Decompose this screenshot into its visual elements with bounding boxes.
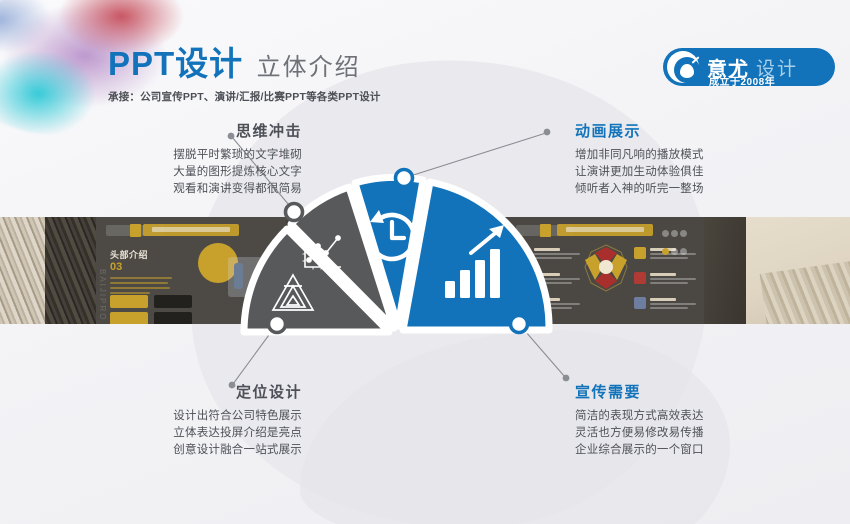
slide-side-label: BAIJIPRO: [98, 269, 107, 321]
slide-title-bar: [143, 224, 239, 236]
callout-line: 企业综合展示的一个窗口: [575, 442, 805, 459]
slide-dot-grid: [662, 226, 694, 262]
node-bottom-right[interactable]: [511, 316, 528, 333]
callout-line: 设计出符合公司特色展示: [72, 408, 302, 425]
callout-line: 灵活也方便易修改易传播: [575, 425, 805, 442]
callout-line: 摆脱平时繁琐的文字堆砌: [72, 147, 302, 164]
node-top-right[interactable]: [396, 170, 413, 187]
wood-texture-dark: [45, 217, 100, 324]
brand-established: 成立于2008年: [709, 73, 775, 88]
callout-top-left: 思维冲击 摆脱平时繁琐的文字堆砌 大量的图形提炼核心文字 观看和演讲变得都很简易: [72, 120, 302, 198]
callout-line: 观看和演讲变得都很简易: [72, 181, 302, 198]
page-title: PPT设计: [108, 47, 243, 80]
brand-badge[interactable]: 意尤 设计 成立于2008年: [663, 48, 835, 86]
page-header: PPT设计 立体介绍 承接：公司宣传PPT、演讲/汇报/比赛PPT等各类PPT设…: [108, 47, 381, 104]
node-bottom-left[interactable]: [269, 316, 286, 333]
callout-line: 立体表达投屏介绍是亮点: [72, 425, 302, 442]
slide-number: 03: [110, 261, 122, 273]
slide-canvas: 头部介绍 03 BAIJIPRO: [0, 0, 850, 524]
dark-panel: [704, 217, 746, 324]
callout-line: 创意设计融合一站式展示: [72, 442, 302, 459]
slide-title-bar: [557, 224, 653, 236]
callout-line: 大量的图形提炼核心文字: [72, 164, 302, 181]
slide-tag-3: [110, 312, 148, 324]
callout-line: 让演讲更加生动体验俱佳: [575, 164, 805, 181]
slide-tag-2: [154, 295, 192, 308]
node-top-left[interactable]: [286, 204, 303, 221]
slide-text-lines: [110, 277, 172, 297]
slide-tag-4: [154, 312, 192, 324]
callout-title: 定位设计: [72, 381, 302, 402]
slide-tag-1: [110, 295, 148, 308]
beige-photo-right: [746, 217, 850, 324]
slide-heading: 头部介绍: [110, 248, 148, 261]
mouse-logo-icon: [667, 51, 699, 83]
callout-title: 动画展示: [575, 120, 805, 141]
callout-title: 思维冲击: [72, 120, 302, 141]
callout-line: 倾听者入神的听完一整场: [575, 181, 805, 198]
photo-railing-detail: [760, 259, 850, 324]
callout-line: 增加非同凡响的播放模式: [575, 147, 805, 164]
callout-title: 宣传需要: [575, 381, 805, 402]
slide-octagon-diagram: [577, 243, 635, 301]
callout-line: 简洁的表现方式高效表达: [575, 408, 805, 425]
callout-bottom-right: 宣传需要 简洁的表现方式高效表达 灵活也方便易修改易传播 企业综合展示的一个窗口: [575, 381, 805, 459]
page-description: 承接：公司宣传PPT、演讲/汇报/比赛PPT等各类PPT设计: [108, 89, 381, 104]
callout-bottom-left: 定位设计 设计出符合公司特色展示 立体表达投屏介绍是亮点 创意设计融合一站式展示: [72, 381, 302, 459]
fan-segment-bar-growth[interactable]: [403, 182, 549, 330]
page-subtitle: 立体介绍: [257, 47, 361, 82]
callout-top-right: 动画展示 增加非同凡响的播放模式 让演讲更加生动体验俱佳 倾听者入神的听完一整场: [575, 120, 805, 198]
